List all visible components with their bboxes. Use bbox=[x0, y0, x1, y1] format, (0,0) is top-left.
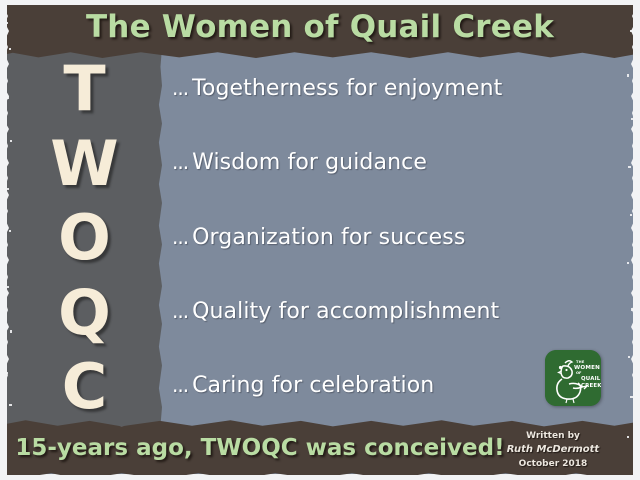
bullet-text: Caring for celebration bbox=[192, 373, 434, 398]
list-item: ...Togetherness for enjoyment bbox=[172, 76, 582, 101]
credit-author: Ruth McDermott bbox=[488, 443, 618, 457]
acronym-letter-t: T bbox=[63, 58, 105, 120]
bullet-text: Togetherness for enjoyment bbox=[192, 76, 502, 101]
list-item: ...Wisdom for guidance bbox=[172, 150, 582, 175]
bullet-text: Organization for success bbox=[192, 225, 465, 250]
bullet-text: Wisdom for guidance bbox=[192, 150, 427, 175]
credit-written-by: Written by bbox=[488, 429, 618, 443]
acronym-letters: T W O Q C bbox=[7, 50, 162, 422]
acronym-letter-c: C bbox=[62, 356, 108, 418]
bullet-text: Quality for accomplishment bbox=[192, 299, 499, 324]
bullet-marker: ... bbox=[172, 225, 192, 249]
bullet-list: ...Togetherness for enjoyment ...Wisdom … bbox=[172, 64, 582, 414]
presentation-slide: The Women of Quail Creek T W O Q C ...To… bbox=[0, 0, 640, 480]
page-title: The Women of Quail Creek bbox=[0, 9, 640, 45]
title-banner: The Women of Quail Creek bbox=[0, 0, 640, 58]
tagline-text: 15-years ago, TWOQC was conceived! bbox=[10, 435, 510, 461]
credit-date: October 2018 bbox=[488, 457, 618, 471]
svg-text:THE: THE bbox=[576, 360, 585, 364]
border-edge-right bbox=[633, 0, 640, 480]
credit-block: Written by Ruth McDermott October 2018 bbox=[488, 429, 618, 471]
acronym-letter-w: W bbox=[50, 133, 118, 195]
list-item: ...Caring for celebration bbox=[172, 373, 582, 398]
quail-creek-logo: THE WOMEN OF QUAIL CREEK bbox=[545, 350, 601, 406]
acronym-letter-q: Q bbox=[58, 282, 111, 344]
svg-text:CREEK: CREEK bbox=[581, 383, 601, 389]
bullet-marker: ... bbox=[172, 150, 192, 174]
tagline-banner: 15-years ago, TWOQC was conceived! Writt… bbox=[0, 419, 640, 480]
svg-text:QUAIL: QUAIL bbox=[581, 376, 601, 382]
bullet-marker: ... bbox=[172, 76, 192, 100]
quail-bird-icon: THE WOMEN OF QUAIL CREEK bbox=[545, 350, 601, 406]
list-item: ...Organization for success bbox=[172, 225, 582, 250]
bullet-marker: ... bbox=[172, 299, 192, 323]
acronym-letter-o: O bbox=[58, 207, 111, 269]
list-item: ...Quality for accomplishment bbox=[172, 299, 582, 324]
bullet-marker: ... bbox=[172, 373, 192, 397]
svg-text:OF: OF bbox=[576, 371, 582, 375]
